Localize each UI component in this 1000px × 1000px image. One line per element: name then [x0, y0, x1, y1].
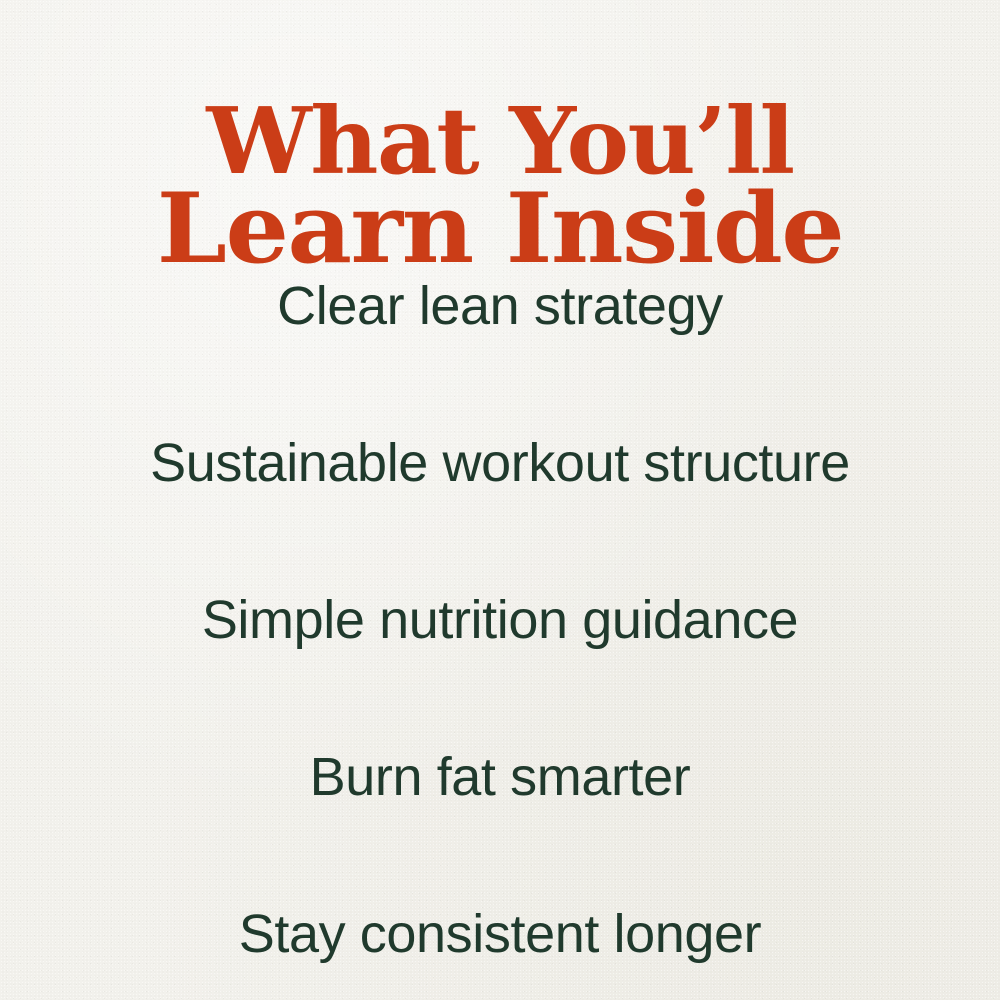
poster-content: What You’ll Learn Inside Clear lean stra…	[0, 0, 1000, 1000]
benefit-item-3: Simple nutrition guidance	[0, 542, 1000, 699]
benefit-item-4: Burn fat smarter	[0, 699, 1000, 856]
benefit-list: Clear lean strategy Sustainable workout …	[0, 228, 1000, 1000]
benefit-item-2: Sustainable workout structure	[0, 385, 1000, 542]
benefit-item-1: Clear lean strategy	[0, 228, 1000, 385]
poster-canvas: What You’ll Learn Inside Clear lean stra…	[0, 0, 1000, 1000]
benefit-item-5: Stay consistent longer	[0, 856, 1000, 1000]
